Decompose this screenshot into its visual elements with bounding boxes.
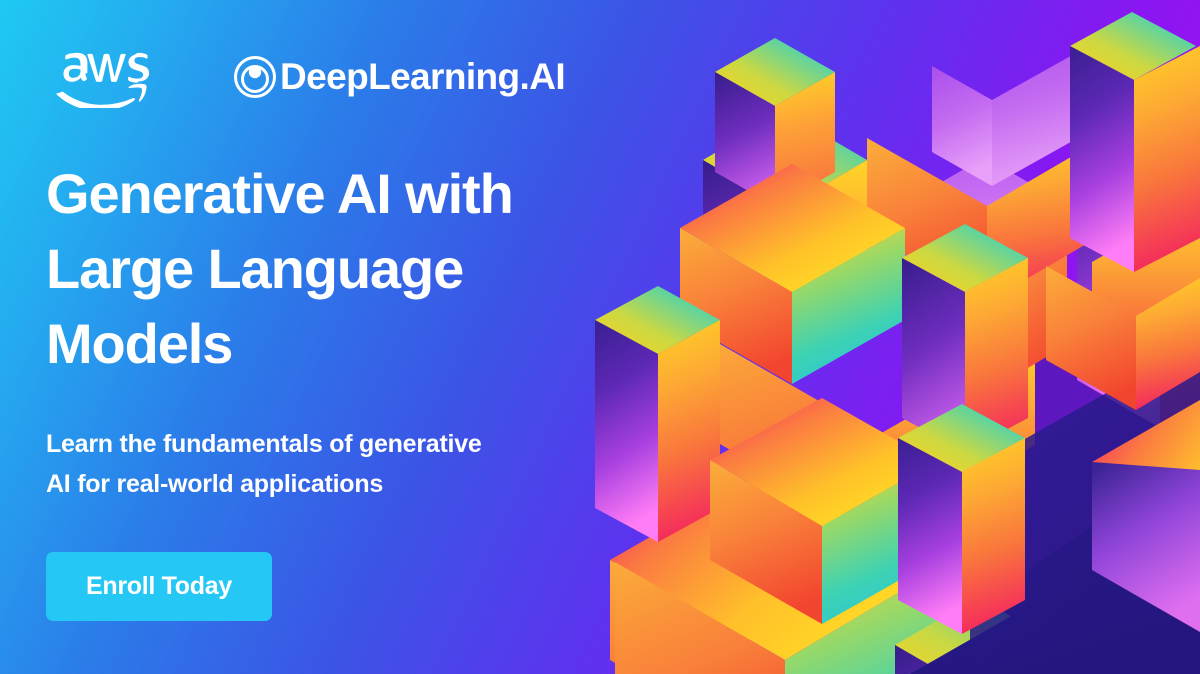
subtitle-line-2: AI for real-world applications <box>46 465 626 505</box>
logo-row: DeepLearning.AI <box>46 46 640 108</box>
subtitle-line-1: Learn the fundamentals of generative <box>46 425 626 465</box>
deeplearning-ai-mark-icon <box>234 56 276 98</box>
subtitle: Learn the fundamentals of generative AI … <box>46 425 626 504</box>
promo-banner: DeepLearning.AI Generative AI with Large… <box>0 0 1200 674</box>
headline-line-1: Generative AI with <box>46 156 640 231</box>
banner-content: DeepLearning.AI Generative AI with Large… <box>0 0 640 674</box>
deeplearning-ai-logo: DeepLearning.AI <box>234 56 565 98</box>
page-title: Generative AI with Large Language Models <box>46 156 640 381</box>
isometric-cube-artwork-main <box>580 0 1200 674</box>
headline-line-3: Models <box>46 306 640 381</box>
deeplearning-ai-wordmark: DeepLearning.AI <box>280 56 565 98</box>
enroll-today-button[interactable]: Enroll Today <box>46 552 272 621</box>
headline-line-2: Large Language <box>46 231 640 306</box>
aws-logo-icon <box>46 46 154 108</box>
